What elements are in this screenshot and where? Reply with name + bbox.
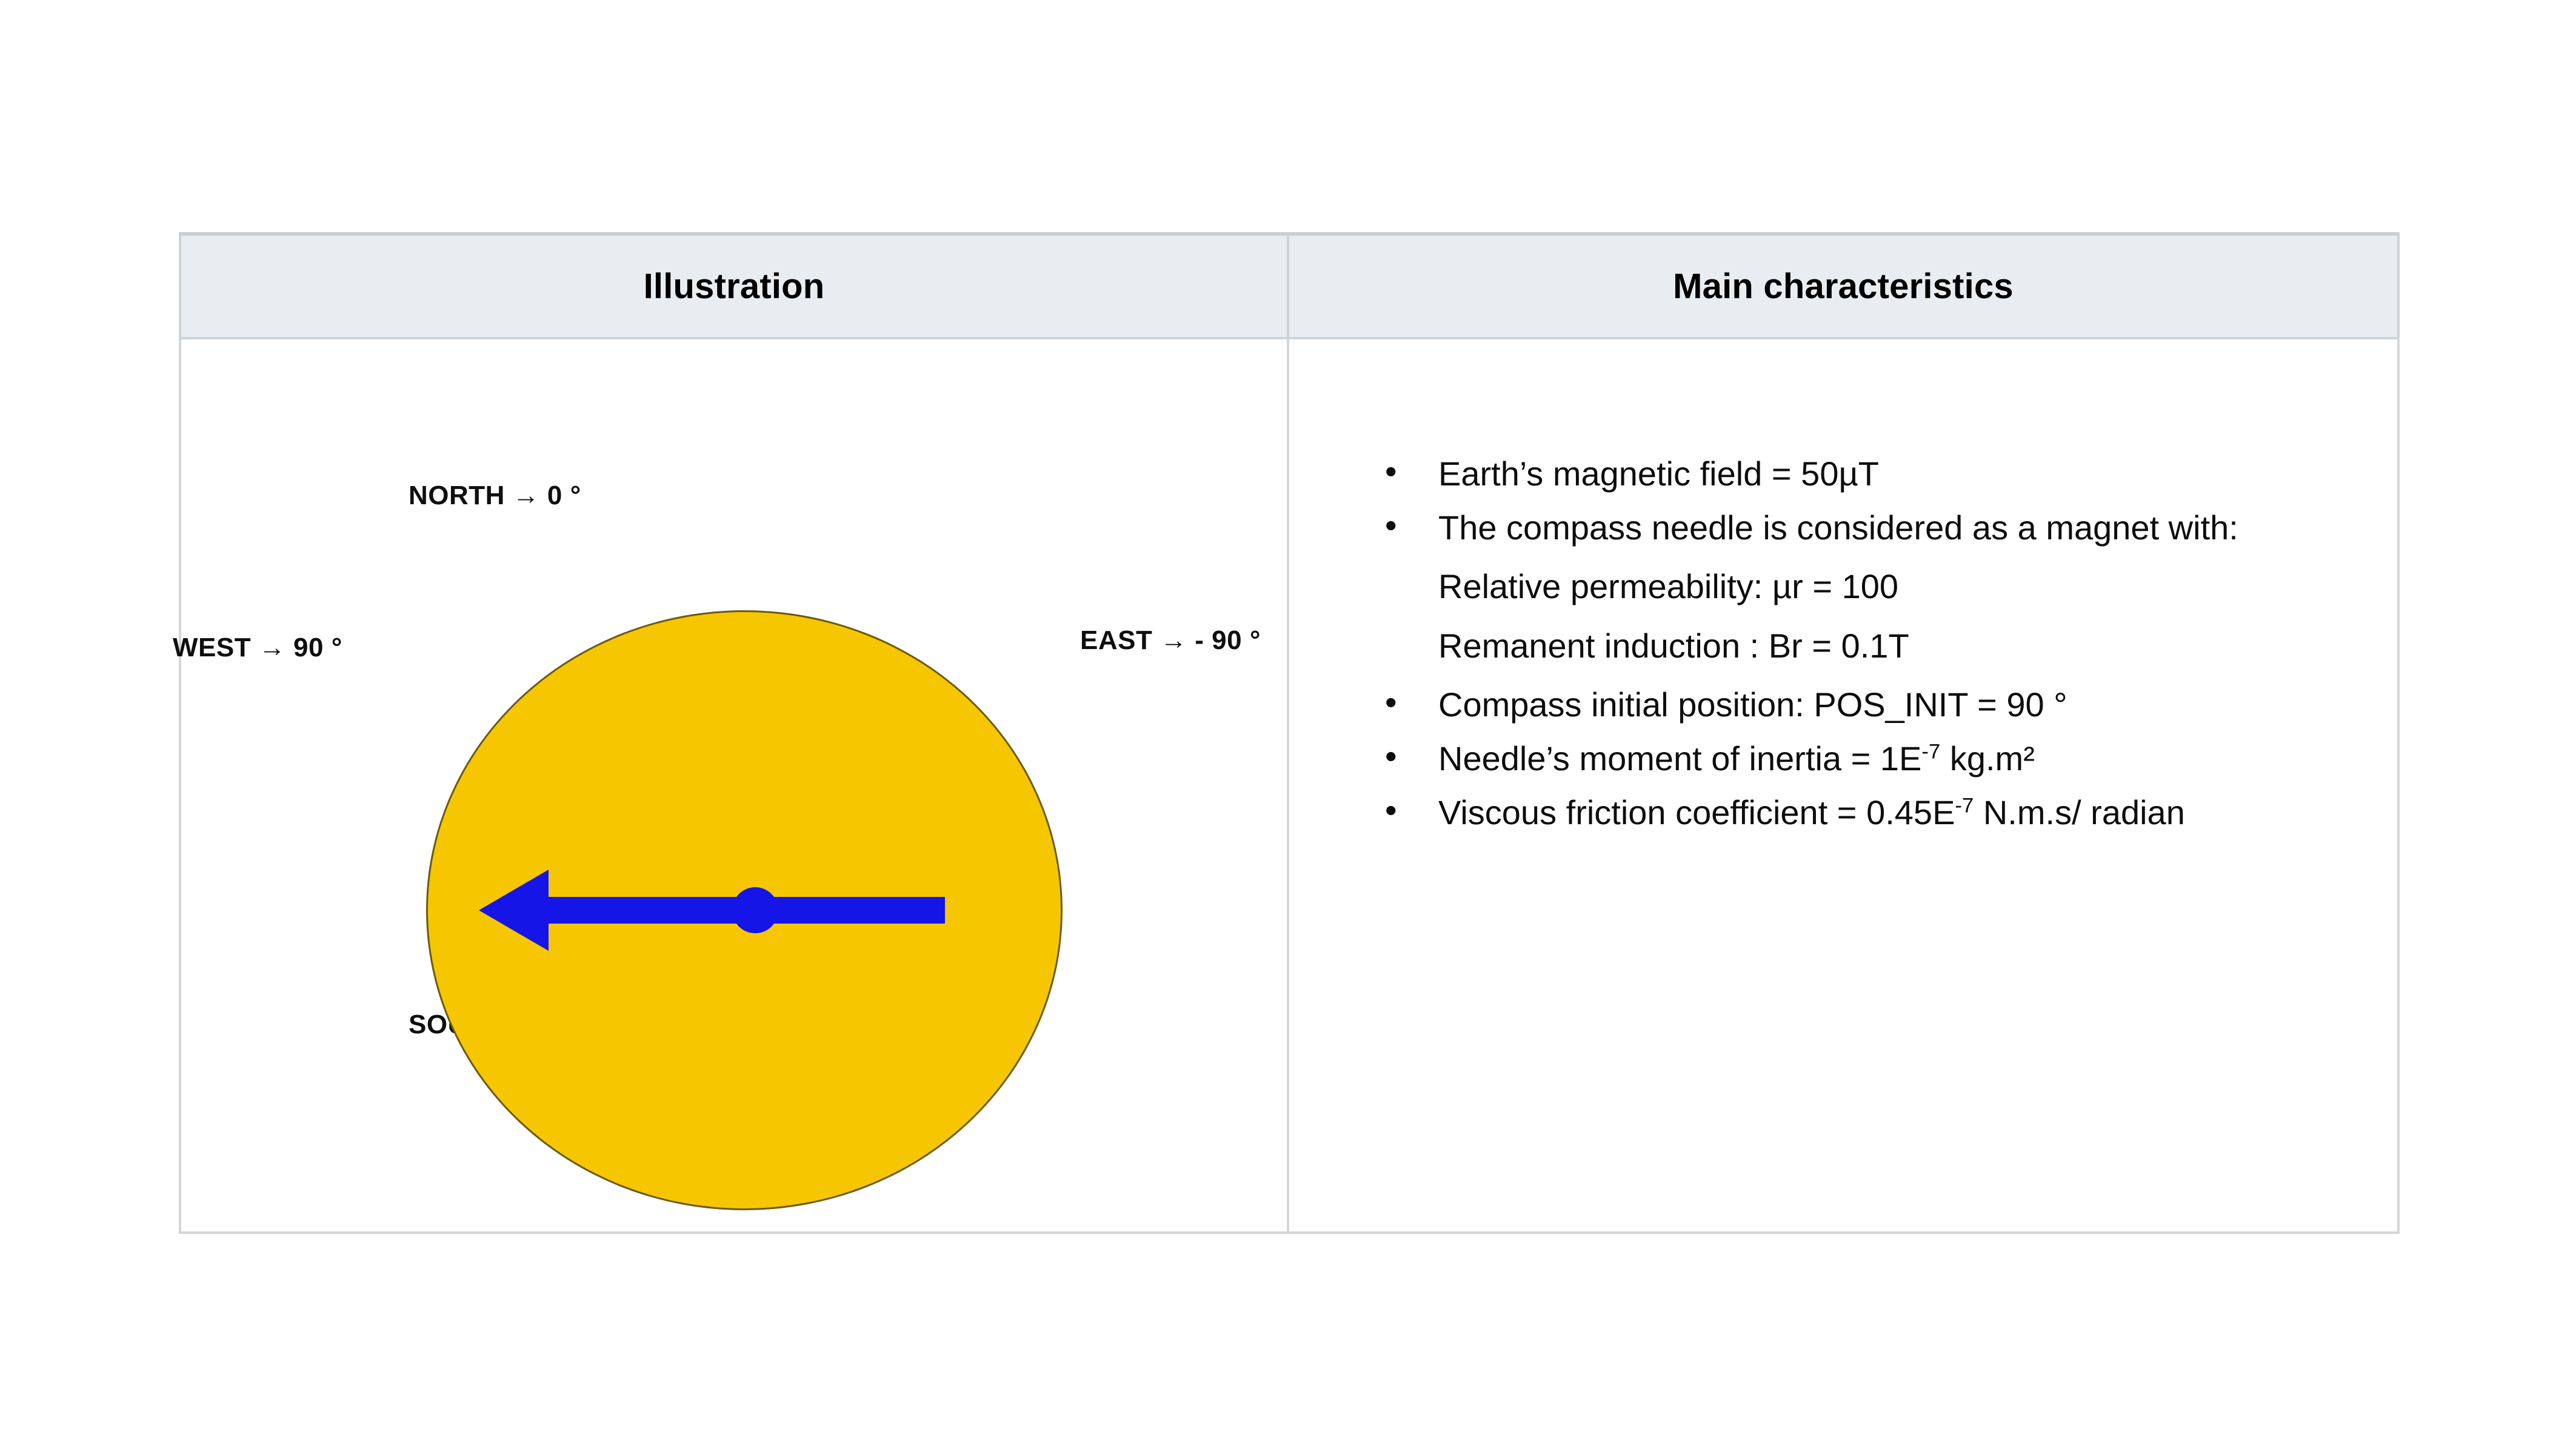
characteristic-item: Needle’s moment of inertia = 1E-7 kg.m² xyxy=(1372,738,2331,779)
characteristic-item: The compass needle is considered as a ma… xyxy=(1372,507,2331,548)
column-header-characteristics-label: Main characteristics xyxy=(1673,267,2014,306)
exponent: -7 xyxy=(1921,740,1940,763)
compass-label-east: EAST → - 90 ° xyxy=(1080,625,1261,656)
compass-diagram: NORTH → 0 ° WEST → 90 ° EAST → - 90 ° SO… xyxy=(181,339,1287,1231)
column-header-characteristics: Main characteristics xyxy=(1288,234,2398,338)
needle-arrow-icon xyxy=(479,870,549,951)
compass-label-west: WEST → 90 ° xyxy=(173,633,342,663)
characteristic-item: Relative permeability: µr = 100 xyxy=(1372,566,2331,607)
characteristics-list: Earth’s magnetic field = 50µTThe compass… xyxy=(1289,339,2397,833)
characteristic-item: Viscous friction coefficient = 0.45E-7 N… xyxy=(1372,792,2331,833)
table-body: NORTH → 0 ° WEST → 90 ° EAST → - 90 ° SO… xyxy=(180,338,2398,1233)
needle-pivot-icon xyxy=(732,887,778,933)
characteristic-item: Earth’s magnetic field = 50µT xyxy=(1372,453,2331,494)
compass-label-north: NORTH → 0 ° xyxy=(409,481,581,511)
table-header-row: Illustration Main characteristics xyxy=(180,234,2398,338)
cell-characteristics: Earth’s magnetic field = 50µTThe compass… xyxy=(1288,338,2398,1233)
characteristic-item: Compass initial position: POS_INIT = 90 … xyxy=(1372,684,2331,725)
specification-table: Illustration Main characteristics NORTH … xyxy=(179,232,2400,1234)
column-header-illustration: Illustration xyxy=(180,234,1288,338)
exponent: -7 xyxy=(1955,794,1974,817)
table-row: NORTH → 0 ° WEST → 90 ° EAST → - 90 ° SO… xyxy=(180,338,2398,1233)
cell-illustration: NORTH → 0 ° WEST → 90 ° EAST → - 90 ° SO… xyxy=(180,338,1288,1233)
column-header-illustration-label: Illustration xyxy=(644,267,825,306)
compass-needle xyxy=(426,610,1063,1210)
characteristic-item: Remanent induction : Br = 0.1T xyxy=(1372,625,2331,666)
